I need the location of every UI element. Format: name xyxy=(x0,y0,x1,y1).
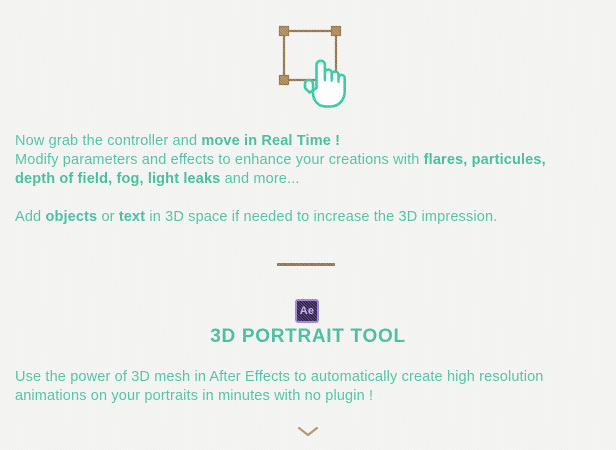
intro-line-1-plain: Now grab the controller and xyxy=(15,133,201,149)
intro-line-2-bold: flares, particules, xyxy=(424,152,546,168)
text-bold: text xyxy=(119,209,145,225)
after-effects-icon: Ae xyxy=(295,299,319,323)
transform-box-with-hand-cursor-icon xyxy=(272,18,350,110)
page-root: Now grab the controller and move in Real… xyxy=(0,0,616,450)
objects-part-3: in 3D space if needed to increase the 3D… xyxy=(145,209,497,225)
intro-paragraph: Now grab the controller and move in Real… xyxy=(15,132,601,189)
objects-part-1: Add xyxy=(15,209,45,225)
section-description-line-1: Use the power of 3D mesh in After Effect… xyxy=(15,368,601,387)
intro-line-3-bold: depth of field, fog, light leaks xyxy=(15,171,220,187)
section-description: Use the power of 3D mesh in After Effect… xyxy=(15,368,601,406)
objects-part-2: or xyxy=(97,209,119,225)
intro-line-3-plain: and more... xyxy=(220,171,299,187)
section-divider xyxy=(277,263,335,266)
section-description-line-2: animations on your portraits in minutes … xyxy=(15,387,601,406)
objects-text-paragraph: Add objects or text in 3D space if neede… xyxy=(15,208,601,227)
chevron-down-icon[interactable] xyxy=(296,424,320,440)
intro-line-2-plain: Modify parameters and effects to enhance… xyxy=(15,152,424,168)
hand-cursor-icon xyxy=(305,61,345,107)
section-title: 3D PORTRAIT TOOL xyxy=(0,326,616,348)
intro-line-1-bold: move in Real Time ! xyxy=(201,133,340,149)
intro-line-1: Now grab the controller and move in Real… xyxy=(15,132,601,151)
intro-line-3: depth of field, fog, light leaks and mor… xyxy=(15,170,601,189)
intro-line-2: Modify parameters and effects to enhance… xyxy=(15,151,601,170)
objects-bold: objects xyxy=(45,209,97,225)
